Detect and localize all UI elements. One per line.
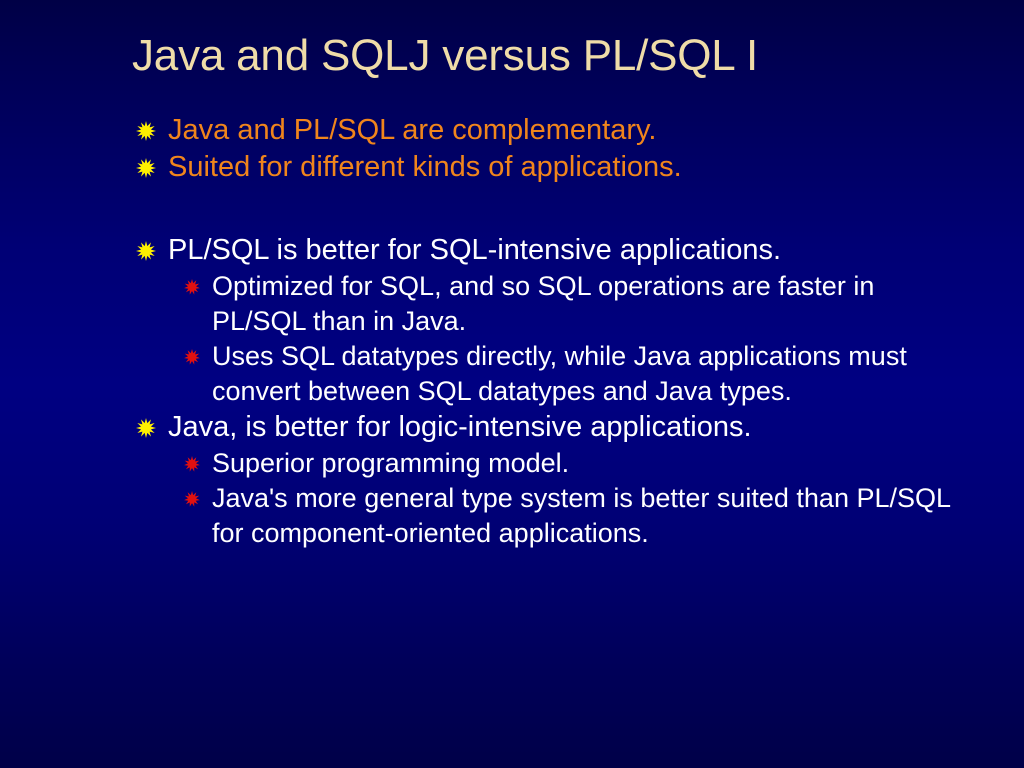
bullet-text: Java's more general type system is bette… — [212, 481, 956, 551]
red-starburst-bullet-icon — [184, 349, 200, 365]
bullet-item-level-1: Suited for different kinds of applicatio… — [0, 149, 1024, 186]
bullet-text: PL/SQL is better for SQL-intensive appli… — [168, 232, 984, 269]
slide-body-content: Java and PL/SQL are complementary.Suited… — [0, 112, 1024, 551]
red-starburst-bullet-icon — [184, 279, 200, 295]
red-starburst-bullet-icon — [184, 491, 200, 507]
slide-title: Java and SQLJ versus PL/SQL I — [132, 30, 962, 82]
yellow-starburst-bullet-icon — [136, 418, 156, 438]
yellow-starburst-bullet-icon — [136, 241, 156, 261]
bullet-item-level-1: Java and PL/SQL are complementary. — [0, 112, 1024, 149]
bullet-text: Java and PL/SQL are complementary. — [168, 112, 984, 149]
bullet-item-level-2: Superior programming model. — [0, 446, 1024, 481]
bullet-spacer — [0, 186, 1024, 232]
bullet-text: Superior programming model. — [212, 446, 956, 481]
yellow-starburst-bullet-icon — [136, 158, 156, 178]
bullet-item-level-1: PL/SQL is better for SQL-intensive appli… — [0, 232, 1024, 269]
bullet-text: Uses SQL datatypes directly, while Java … — [212, 339, 956, 409]
bullet-text: Optimized for SQL, and so SQL operations… — [212, 269, 956, 339]
bullet-text: Java, is better for logic-intensive appl… — [168, 409, 984, 446]
yellow-starburst-bullet-icon — [136, 121, 156, 141]
bullet-item-level-2: Java's more general type system is bette… — [0, 481, 1024, 551]
red-starburst-bullet-icon — [184, 456, 200, 472]
bullet-item-level-2: Optimized for SQL, and so SQL operations… — [0, 269, 1024, 339]
bullet-item-level-2: Uses SQL datatypes directly, while Java … — [0, 339, 1024, 409]
bullet-item-level-1: Java, is better for logic-intensive appl… — [0, 409, 1024, 446]
presentation-slide: Java and SQLJ versus PL/SQL I Java and P… — [0, 0, 1024, 768]
bullet-text: Suited for different kinds of applicatio… — [168, 149, 984, 186]
